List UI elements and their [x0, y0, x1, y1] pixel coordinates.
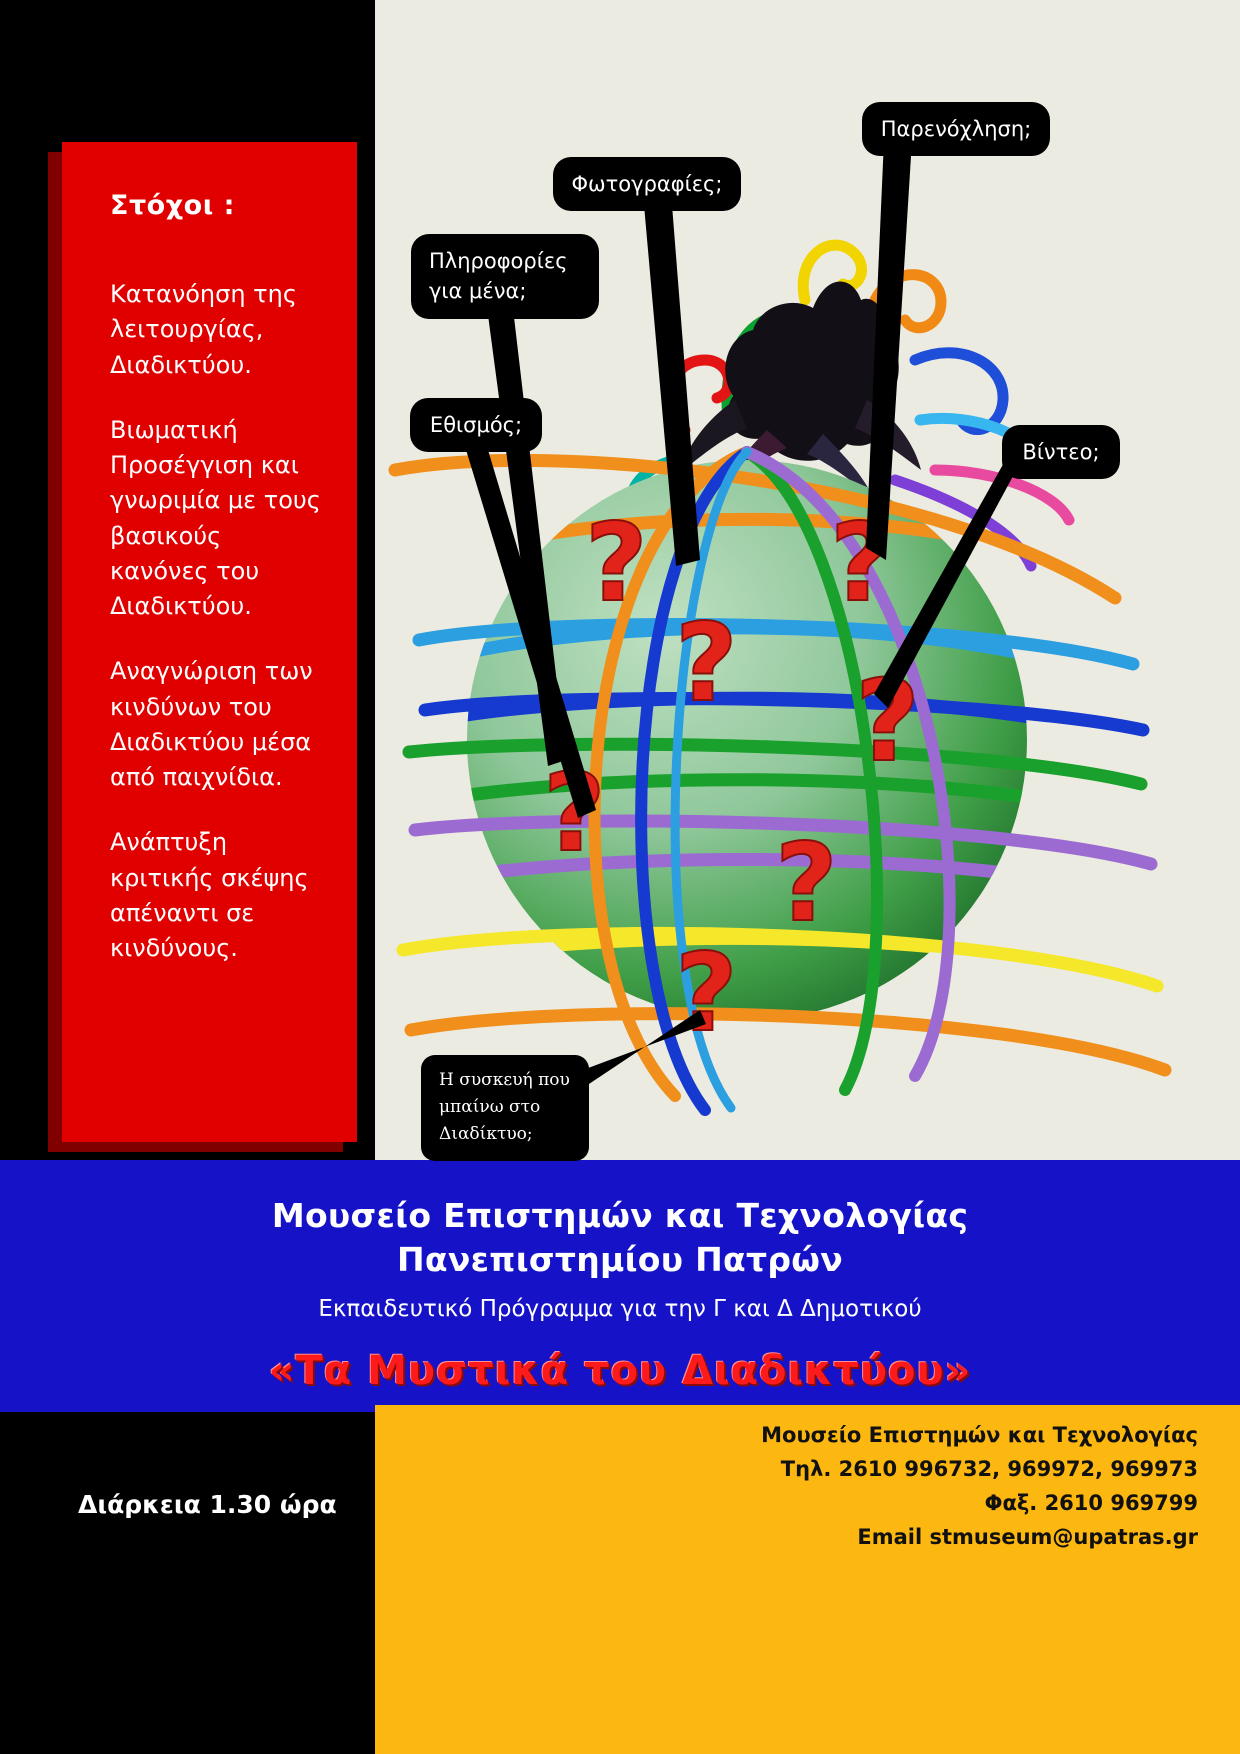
bubble-plirofories: Πληροφορίες για μένα;: [411, 234, 599, 319]
footer-contact: Μουσείο Επιστημών και Τεχνολογίας Τηλ. 2…: [375, 1418, 1220, 1554]
contact-line: Μουσείο Επιστημών και Τεχνολογίας: [375, 1418, 1198, 1452]
banner-line1: Μουσείο Επιστημών και Τεχνολογίας: [0, 1196, 1240, 1235]
contact-line: Φαξ. 2610 969799: [375, 1486, 1198, 1520]
bubble-ethismos: Εθισμός;: [410, 398, 542, 452]
program-title: «Τα Μυστικά του Διαδικτύου»: [0, 1348, 1240, 1394]
contact-line: Τηλ. 2610 996732, 969972, 969973: [375, 1452, 1198, 1486]
duration-label: Διάρκεια 1.30 ώρα: [78, 1490, 337, 1519]
banner-subtitle: Εκπαιδευτικό Πρόγραμμα για την Γ και Δ Δ…: [0, 1296, 1240, 1322]
banner-line2: Πανεπιστημίου Πατρών: [0, 1240, 1240, 1279]
bubble-parenochlisi: Παρενόχληση;: [862, 102, 1050, 156]
poster: ? ? ? ? ? ? ? Στόχοι : Κατανόηση της λει…: [0, 0, 1240, 1754]
bubble-vinteo: Βίντεο;: [1002, 425, 1120, 479]
contact-line: Email stmuseum@upatras.gr: [375, 1520, 1198, 1554]
bubble-fotografies: Φωτογραφίες;: [553, 157, 741, 211]
bubble-siskevi: Η συσκευή που μπαίνω στο Διαδίκτυο;: [421, 1055, 589, 1161]
